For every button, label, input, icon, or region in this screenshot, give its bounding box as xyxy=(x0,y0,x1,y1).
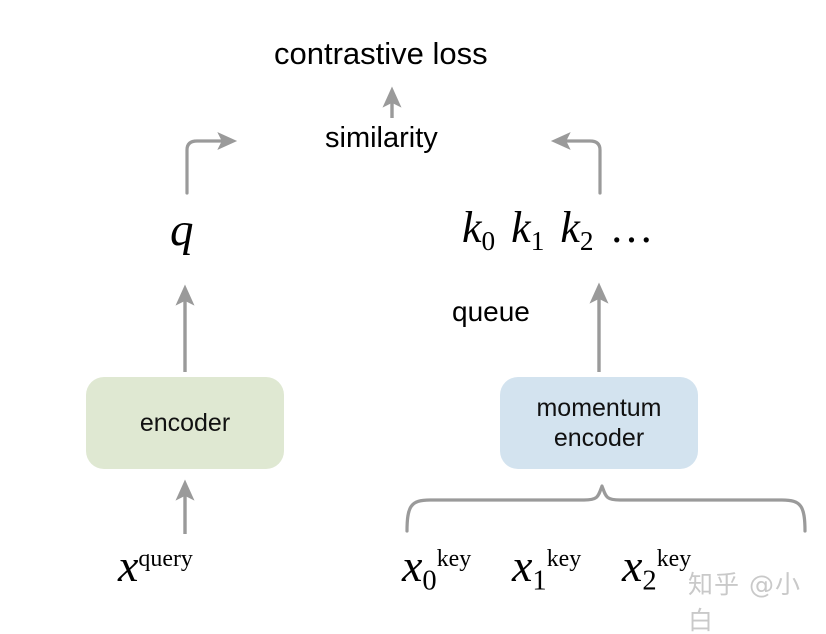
similarity-label: similarity xyxy=(325,122,438,154)
keys-to-similarity-arrow xyxy=(556,141,600,193)
momentum-encoder-box-label: momentumencoder xyxy=(530,393,667,454)
key-inputs-brace xyxy=(407,486,805,531)
contrastive-loss-label: contrastive loss xyxy=(274,37,488,72)
key-vector-1: k1 xyxy=(511,203,544,252)
q-to-similarity-arrow xyxy=(187,141,232,193)
query-input-symbol: xquery xyxy=(118,540,193,592)
momentum-encoder-box[interactable]: momentumencoder xyxy=(500,377,698,469)
key-input-symbol-2: x2key xyxy=(622,540,691,597)
watermark-label: 知乎 @小白 xyxy=(688,565,826,634)
diagram-canvas: contrastive loss similarity queue q k0k1… xyxy=(0,0,826,634)
diagram-vector-layer xyxy=(0,0,826,634)
momentum-encoder-line-2: encoder xyxy=(554,424,644,452)
key-input-symbol-0: x0key xyxy=(402,540,471,597)
query-vector-symbol: q xyxy=(170,204,194,257)
momentum-encoder-line-1: momentum xyxy=(536,394,661,422)
queue-label: queue xyxy=(452,296,530,327)
key-vector-2: k2 xyxy=(560,203,593,252)
key-vectors-ellipsis: … xyxy=(610,203,656,252)
key-input-symbol-1: x1key xyxy=(512,540,581,597)
key-vectors-row: k0k1k2… xyxy=(462,203,656,257)
encoder-box-label: encoder xyxy=(134,408,236,439)
key-vector-0: k0 xyxy=(462,203,495,252)
encoder-box[interactable]: encoder xyxy=(86,377,284,469)
